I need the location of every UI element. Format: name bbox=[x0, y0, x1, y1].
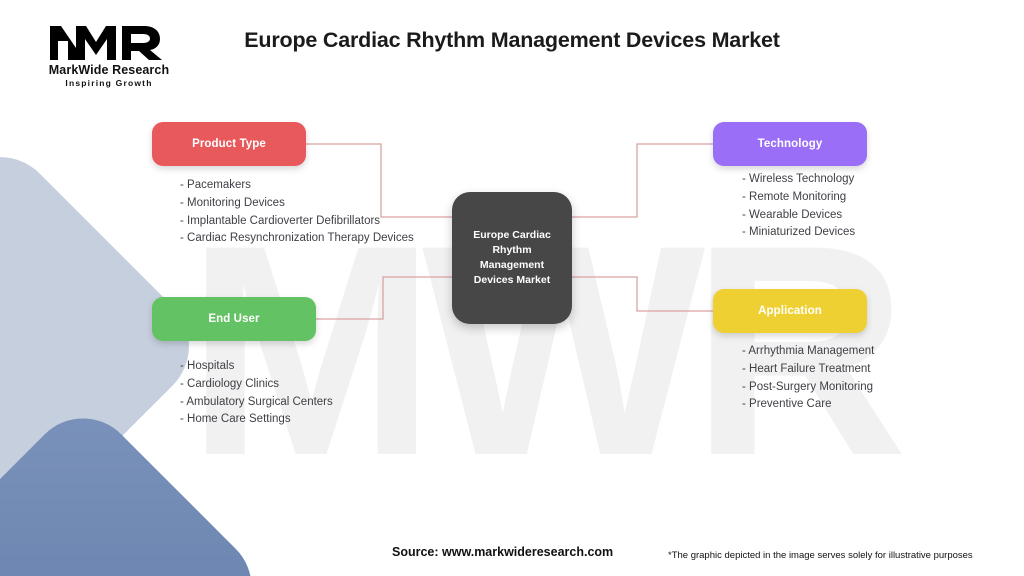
list-product-type: - Pacemakers - Monitoring Devices - Impl… bbox=[180, 177, 414, 248]
infographic-canvas: MWR MarkWide Research Inspiring Growth E… bbox=[0, 0, 1024, 576]
list-application: - Arrhythmia Management - Heart Failure … bbox=[742, 343, 874, 414]
node-end-user-label: End User bbox=[208, 313, 259, 325]
list-technology: - Wireless Technology - Remote Monitorin… bbox=[742, 171, 855, 242]
source-label: Source: www.markwideresearch.com bbox=[392, 545, 613, 559]
list-item: - Cardiac Resynchronization Therapy Devi… bbox=[180, 230, 414, 248]
list-item: - Post-Surgery Monitoring bbox=[742, 379, 874, 397]
list-item: - Cardiology Clinics bbox=[180, 376, 333, 394]
node-technology[interactable]: Technology bbox=[713, 122, 867, 166]
node-center-market[interactable]: Europe Cardiac Rhythm Management Devices… bbox=[452, 192, 572, 324]
list-item: - Implantable Cardioverter Defibrillator… bbox=[180, 213, 414, 231]
node-technology-label: Technology bbox=[758, 138, 823, 150]
list-item: - Monitoring Devices bbox=[180, 195, 414, 213]
connector-technology bbox=[572, 144, 713, 217]
connector-end-user bbox=[316, 277, 452, 319]
list-item: - Heart Failure Treatment bbox=[742, 361, 874, 379]
list-item: - Miniaturized Devices bbox=[742, 224, 855, 242]
list-item: - Remote Monitoring bbox=[742, 189, 855, 207]
node-center-label: Europe Cardiac Rhythm Management Devices… bbox=[460, 228, 564, 288]
list-item: - Preventive Care bbox=[742, 396, 874, 414]
node-application-label: Application bbox=[758, 305, 822, 317]
list-item: - Ambulatory Surgical Centers bbox=[180, 394, 333, 412]
node-application[interactable]: Application bbox=[713, 289, 867, 333]
list-item: - Home Care Settings bbox=[180, 411, 333, 429]
node-product-type-label: Product Type bbox=[192, 138, 266, 150]
list-item: - Pacemakers bbox=[180, 177, 414, 195]
node-end-user[interactable]: End User bbox=[152, 297, 316, 341]
list-item: - Wireless Technology bbox=[742, 171, 855, 189]
list-end-user: - Hospitals - Cardiology Clinics - Ambul… bbox=[180, 358, 333, 429]
connector-application bbox=[572, 277, 713, 311]
disclaimer-note: *The graphic depicted in the image serve… bbox=[668, 550, 973, 561]
list-item: - Hospitals bbox=[180, 358, 333, 376]
list-item: - Wearable Devices bbox=[742, 207, 855, 225]
list-item: - Arrhythmia Management bbox=[742, 343, 874, 361]
node-product-type[interactable]: Product Type bbox=[152, 122, 306, 166]
